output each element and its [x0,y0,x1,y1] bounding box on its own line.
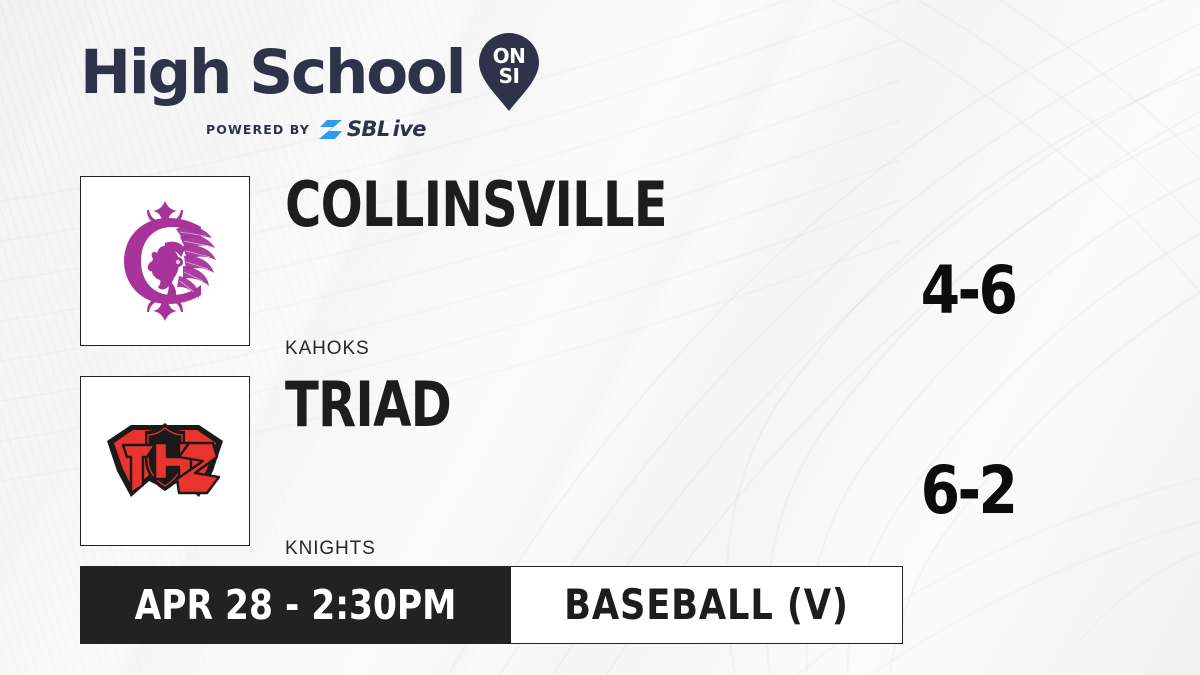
team-logo-box-collinsville [80,176,250,346]
sblive-logo: SBLive [318,119,426,140]
powered-by-row: POWERED BY SBLive [206,119,540,140]
game-info-bar: APR 28 - 2:30PM BASEBALL (V) [80,566,903,644]
game-sport-label: BASEBALL (V) [564,584,849,626]
brand-wordmark: High School [80,43,464,103]
sblive-mark-icon [318,119,344,140]
game-datetime-box: APR 28 - 2:30PM [80,566,511,644]
brand-wordmark-row: High School ON SI [80,34,540,112]
collinsville-kahoks-logo-icon [106,199,224,323]
game-sport-box: BASEBALL (V) [511,566,903,644]
triad-knights-logo-icon [103,419,227,503]
team-mascot-kahoks: KAHOKS [285,338,370,360]
pin-label-si: SI [499,64,520,88]
team-mascot-knights: KNIGHTS [285,538,376,560]
team-name-triad: TRIAD [285,374,451,436]
sblive-wordmark-suffix: ive [393,119,426,140]
brand-header: High School ON SI POWERED BY SBLive [80,34,540,140]
on-si-pin-icon: ON SI [478,32,540,112]
team-record-triad: 6-2 [886,458,1049,524]
game-datetime-label: APR 28 - 2:30PM [135,585,457,626]
team-record-collinsville: 4-6 [886,258,1049,324]
sblive-wordmark-main: SBL [347,119,390,140]
team-logo-box-triad [80,376,250,546]
powered-by-label: POWERED BY [206,122,310,137]
team-name-collinsville: COLLINSVILLE [285,174,667,236]
matchup-graphic: High School ON SI POWERED BY SBLive [0,0,1200,675]
